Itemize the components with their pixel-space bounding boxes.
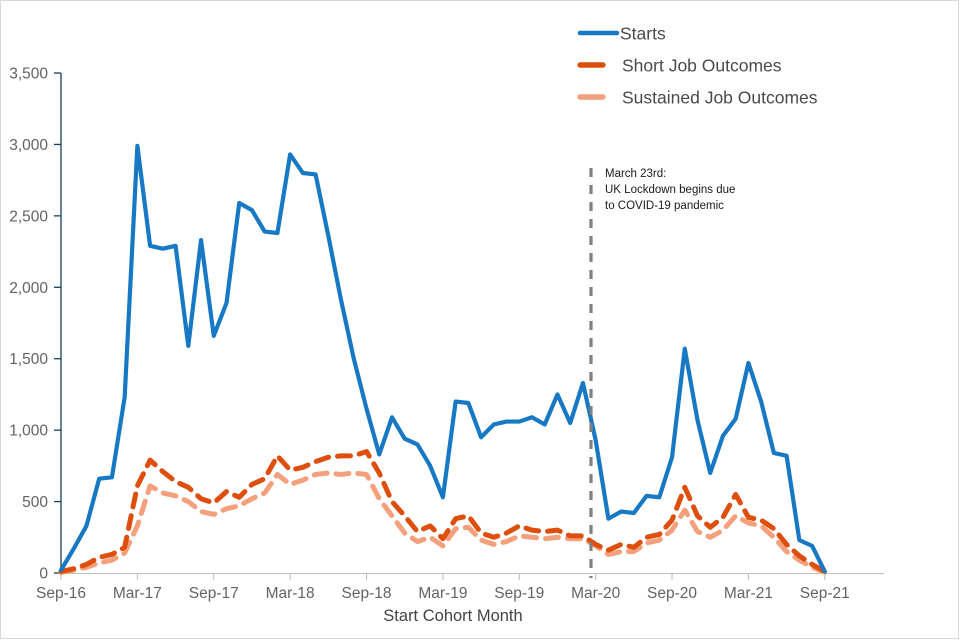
y-tick-label: 3,500	[9, 66, 48, 83]
annotation-line-2: UK Lockdown begins due	[605, 184, 735, 196]
chart-legend: StartsShort Job OutcomesSustained Job Ou…	[580, 24, 818, 108]
x-tick-label: Sep-16	[36, 585, 86, 602]
annotation-line-3: to COVID-19 pandemic	[605, 200, 724, 212]
x-tick-label: Sep-17	[189, 585, 239, 602]
y-tick-label: 500	[22, 494, 48, 511]
y-axis-ticks: 05001,0001,5002,0002,5003,0003,500	[9, 66, 61, 583]
annotation-line-1: March 23rd:	[605, 168, 666, 180]
x-tick-label: Mar-18	[266, 585, 315, 602]
legend-label-starts: Starts	[620, 24, 666, 44]
chart-page: 05001,0001,5002,0002,5003,0003,500 Sep-1…	[0, 0, 960, 640]
chart-plot-frame: 05001,0001,5002,0002,5003,0003,500 Sep-1…	[0, 0, 960, 640]
x-tick-label: Sep-21	[800, 585, 850, 602]
x-tick-label: Sep-18	[342, 585, 392, 602]
y-tick-label: 0	[39, 566, 48, 583]
x-tick-label: Mar-20	[571, 585, 620, 602]
x-axis-ticks: Sep-16Mar-17Sep-17Mar-18Sep-18Mar-19Sep-…	[36, 573, 850, 602]
y-tick-label: 2,500	[9, 208, 48, 225]
y-tick-label: 1,000	[9, 423, 48, 440]
legend-label-short-job-outcomes: Short Job Outcomes	[622, 56, 782, 76]
x-axis-title: Start Cohort Month	[383, 607, 522, 625]
lockdown-annotation: March 23rd:UK Lockdown begins dueto COVI…	[605, 168, 735, 212]
legend-label-sustained-job-outcomes: Sustained Job Outcomes	[622, 88, 818, 108]
x-tick-label: Sep-20	[647, 585, 697, 602]
x-tick-label: Mar-19	[418, 585, 467, 602]
line-chart: 05001,0001,5002,0002,5003,0003,500 Sep-1…	[0, 0, 960, 640]
y-tick-label: 1,500	[9, 351, 48, 368]
x-tick-label: Mar-17	[113, 585, 162, 602]
y-tick-label: 3,000	[9, 137, 48, 154]
y-tick-label: 2,000	[9, 280, 48, 297]
x-tick-label: Sep-19	[494, 585, 544, 602]
x-tick-label: Mar-21	[724, 585, 773, 602]
